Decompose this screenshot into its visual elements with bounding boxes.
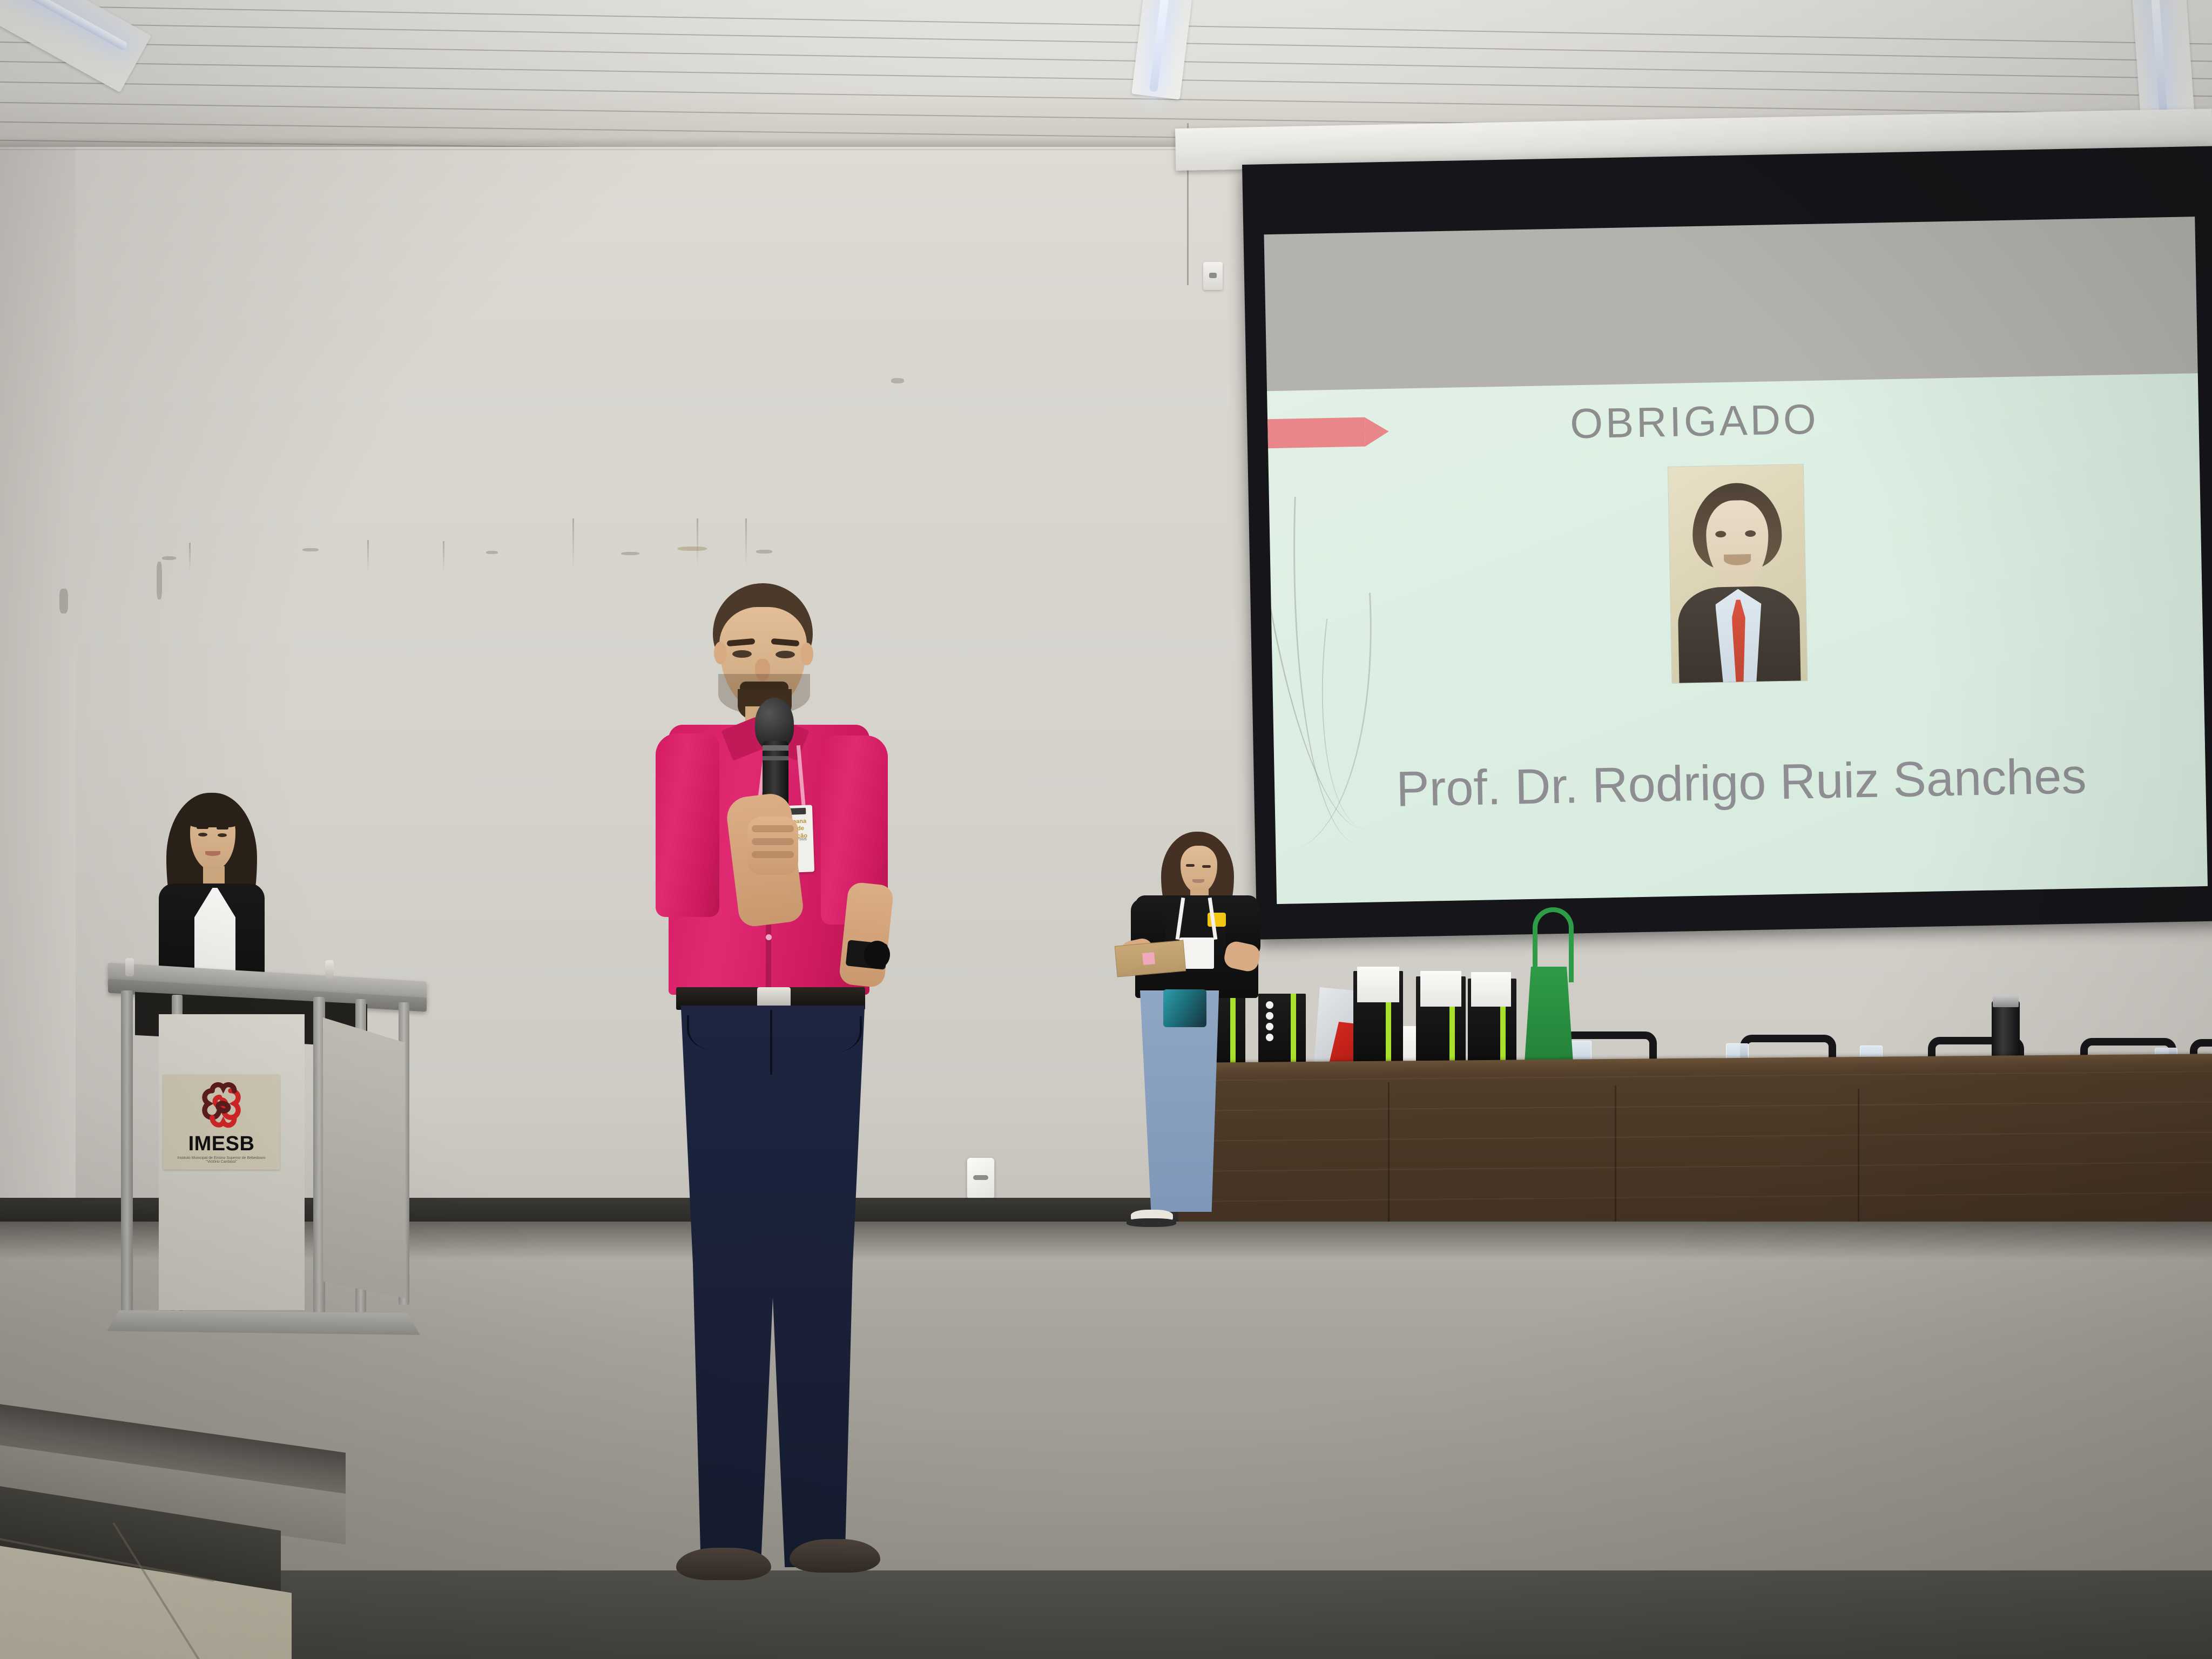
tissue-paper — [1471, 972, 1511, 1007]
tissue-paper — [1357, 967, 1399, 1002]
assistant-sandal-sole — [1127, 1218, 1176, 1227]
lectern-base — [107, 1310, 420, 1335]
projection-screen-surface: OBRIGADO Prof. Dr. Rodrigo Ruiz Sanches — [1264, 217, 2207, 904]
projection-screen-frame: OBRIGADO Prof. Dr. Rodrigo Ruiz Sanches — [1242, 146, 2212, 939]
wall-left-return — [0, 147, 76, 1222]
assistant-woman — [1091, 832, 1285, 1264]
speaker-jeans — [673, 1006, 873, 1567]
imesb-knot-icon — [193, 1081, 249, 1130]
wall-bracket — [1203, 262, 1223, 290]
slide-speaker-photo — [1668, 464, 1808, 683]
assistant-waist-wrap — [1163, 989, 1206, 1027]
box-label — [1142, 952, 1155, 965]
slide-accent-arrow — [1267, 417, 1365, 449]
lectern-knob — [325, 960, 334, 979]
tissue-paper — [1420, 971, 1461, 1007]
thermos-cap — [1993, 995, 2019, 1007]
imesb-logo-plaque: IMESB Instituto Municipal de Ensino Supe… — [163, 1075, 280, 1170]
speaker-man: XXXV Semana Científica de Administração … — [637, 583, 972, 1577]
stage-riser-front — [0, 1570, 2212, 1659]
host-fringe — [188, 802, 239, 827]
slide-heading: OBRIGADO — [1569, 395, 1819, 449]
slide-speaker-name: Prof. Dr. Rodrigo Ruiz Sanches — [1395, 748, 2087, 818]
auditorium-photo: OBRIGADO Prof. Dr. Rodrigo Ruiz Sanches — [0, 0, 2212, 1659]
lectern-post — [121, 990, 133, 1325]
lectern-side-panel — [323, 1017, 405, 1298]
speaker-shoe-right — [790, 1539, 880, 1573]
lectern-knob — [125, 958, 134, 976]
imesb-logo-text: IMESB — [188, 1134, 255, 1154]
speaker-sleeve-left — [656, 733, 719, 917]
presentation-slide: OBRIGADO Prof. Dr. Rodrigo Ruiz Sanches — [1267, 373, 2208, 904]
speaker-shoe-left — [676, 1548, 771, 1580]
imesb-logo-subtitle: Instituto Municipal de Ensino Superior d… — [173, 1156, 270, 1164]
tote-bag[interactable] — [1524, 967, 1574, 1070]
lectern: IMESB Instituto Municipal de Ensino Supe… — [103, 967, 432, 1377]
